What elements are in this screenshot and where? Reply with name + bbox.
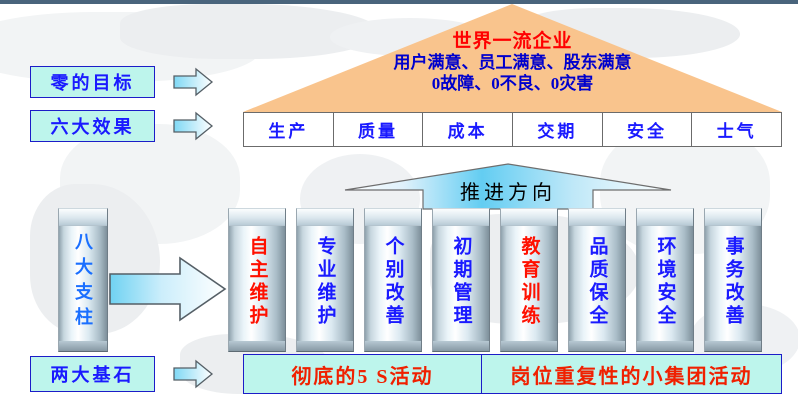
pillar-foot [229, 341, 285, 351]
arrow-to-roof [172, 67, 214, 97]
promotion-direction-arrow: 推进方向 [343, 162, 673, 210]
pillar-label: 专业维护 [316, 232, 335, 328]
pillar-quality-maintenance[interactable]: 品质保全 [568, 208, 626, 352]
six-effects-row: 生产 质量 成本 交期 安全 士气 [243, 112, 782, 147]
pillar-label: 环境安全 [656, 232, 675, 328]
effect-cell-quality[interactable]: 质量 [334, 113, 424, 146]
label-six-effects[interactable]: 六大效果 [30, 110, 155, 142]
pillar-foot [637, 341, 693, 351]
pillar-label: 初期管理 [452, 232, 471, 328]
arrow-to-foundation [172, 359, 214, 389]
pillar-cap [705, 209, 761, 226]
roof-vision-banner: 世界一流企业 用户满意、员工满意、股东满意 0故障、0不良、0灾害 [243, 4, 782, 112]
pillar-cap [59, 209, 107, 226]
pillar-foot [59, 341, 107, 351]
arrow-to-pillars [108, 256, 228, 322]
label-zero-goal[interactable]: 零的目标 [30, 66, 155, 98]
pillar-label: 事务改善 [724, 232, 743, 328]
effect-cell-cost[interactable]: 成本 [423, 113, 513, 146]
pillar-education-training[interactable]: 教育训练 [500, 208, 558, 352]
pillar-foot [365, 341, 421, 351]
eight-pillars-label: 八大支柱 [74, 228, 92, 332]
pillar-early-management[interactable]: 初期管理 [432, 208, 490, 352]
foundation-cell-5s[interactable]: 彻底的5 S活动 [244, 355, 482, 393]
pillar-label: 教育训练 [520, 232, 539, 328]
pillar-autonomous-maintenance[interactable]: 自主维护 [228, 208, 286, 352]
arrow-to-effects [172, 111, 214, 141]
pillar-label: 自主维护 [248, 232, 267, 328]
pillar-cap [501, 209, 557, 226]
pillar-office-improvement[interactable]: 事务改善 [704, 208, 762, 352]
pillar-cap [569, 209, 625, 226]
roof-text-block: 世界一流企业 用户满意、员工满意、股东满意 0故障、0不良、0灾害 [243, 30, 782, 95]
label-two-cornerstones[interactable]: 两大基石 [30, 356, 155, 392]
pillar-foot [433, 341, 489, 351]
foundation-cell-small-group[interactable]: 岗位重复性的小集团活动 [482, 355, 781, 393]
pillar-cap [433, 209, 489, 226]
effect-cell-morale[interactable]: 士气 [692, 113, 781, 146]
pillar-foot [569, 341, 625, 351]
pillar-cap [297, 209, 353, 226]
effect-cell-delivery[interactable]: 交期 [513, 113, 603, 146]
pillar-cap [365, 209, 421, 226]
effect-cell-production[interactable]: 生产 [244, 113, 334, 146]
pillar-professional-maintenance[interactable]: 专业维护 [296, 208, 354, 352]
effect-cell-safety[interactable]: 安全 [603, 113, 693, 146]
pillar-environment-safety[interactable]: 环境安全 [636, 208, 694, 352]
promotion-direction-label: 推进方向 [343, 176, 673, 205]
pillar-cap [229, 209, 285, 226]
pillar-label: 个别改善 [384, 232, 403, 328]
pillar-foot [705, 341, 761, 351]
vision-satisfaction-line: 用户满意、员工满意、股东满意 [243, 53, 782, 74]
vision-headline: 世界一流企业 [243, 30, 782, 53]
vision-zero-line: 0故障、0不良、0灾害 [243, 74, 782, 95]
pillar-cap [637, 209, 693, 226]
tpm-temple-diagram: 世界一流企业 用户满意、员工满意、股东满意 0故障、0不良、0灾害 生产 质量 … [0, 0, 798, 407]
pillar-focused-improvement[interactable]: 个别改善 [364, 208, 422, 352]
foundation-row: 彻底的5 S活动 岗位重复性的小集团活动 [243, 354, 782, 394]
label-eight-pillars-column[interactable]: 八大支柱 [58, 208, 108, 352]
pillar-foot [501, 341, 557, 351]
pillar-foot [297, 341, 353, 351]
pillar-label: 品质保全 [588, 232, 607, 328]
